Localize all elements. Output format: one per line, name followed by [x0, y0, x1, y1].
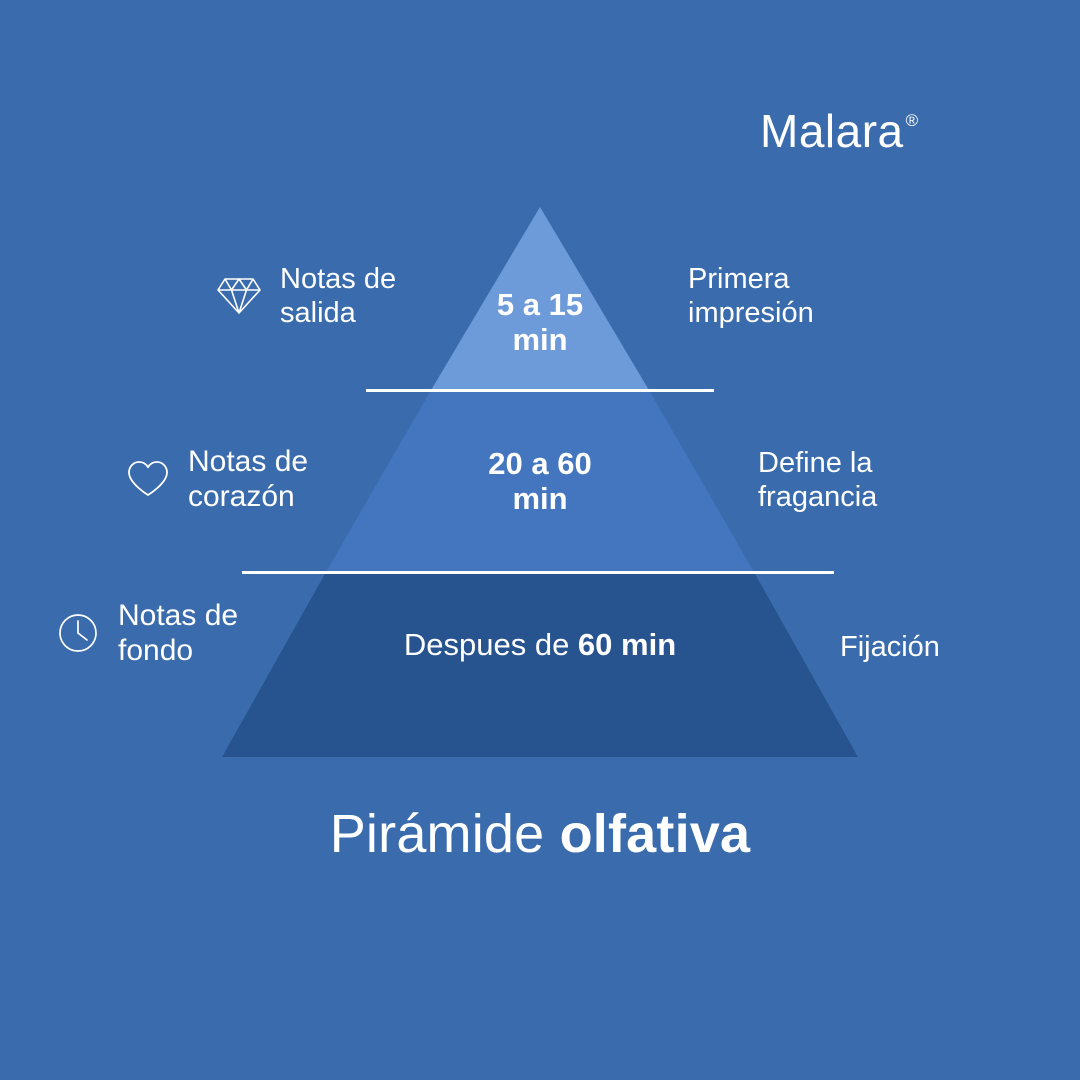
tier-base-duration: Despues de 60 min	[330, 628, 750, 663]
tier-top-duration: 5 a 15 min	[440, 288, 640, 357]
tier-top-note-group: Notas de salida	[216, 262, 396, 330]
divider-line-top	[366, 389, 714, 392]
heart-icon	[126, 459, 170, 499]
page-title: Pirámide olfativa	[0, 805, 1080, 864]
tier-base-duration-prefix: Despues de	[404, 627, 578, 662]
brand-name: Malara	[760, 108, 904, 154]
divider-line-bottom	[242, 571, 834, 574]
page-title-bold: olfativa	[560, 804, 751, 864]
tier-base-note-group: Notas de fondo	[56, 598, 238, 669]
clock-icon	[56, 611, 100, 655]
tier-middle-duration: 20 a 60 min	[420, 447, 660, 516]
tier-base-duration-value: 60 min	[578, 627, 676, 662]
page-title-light: Pirámide	[330, 804, 560, 864]
registered-trademark-icon: ®	[906, 112, 919, 129]
pyramid-graphic	[0, 0, 1080, 1080]
tier-base-effect-label: Fijación	[840, 630, 940, 664]
tier-middle-note-group: Notas de corazón	[126, 444, 308, 515]
pyramid-tier-base	[222, 571, 858, 757]
tier-top-effect-label: Primera impresión	[688, 262, 814, 330]
infographic-canvas: Malara ® Notas de salida 5 a	[0, 0, 1080, 1080]
tier-middle-note-label: Notas de corazón	[188, 444, 308, 515]
diamond-icon	[216, 275, 262, 317]
tier-top-note-label: Notas de salida	[280, 262, 396, 330]
tier-base-note-label: Notas de fondo	[118, 598, 238, 669]
brand-logo: Malara ®	[760, 108, 918, 154]
tier-middle-effect-label: Define la fragancia	[758, 446, 877, 514]
